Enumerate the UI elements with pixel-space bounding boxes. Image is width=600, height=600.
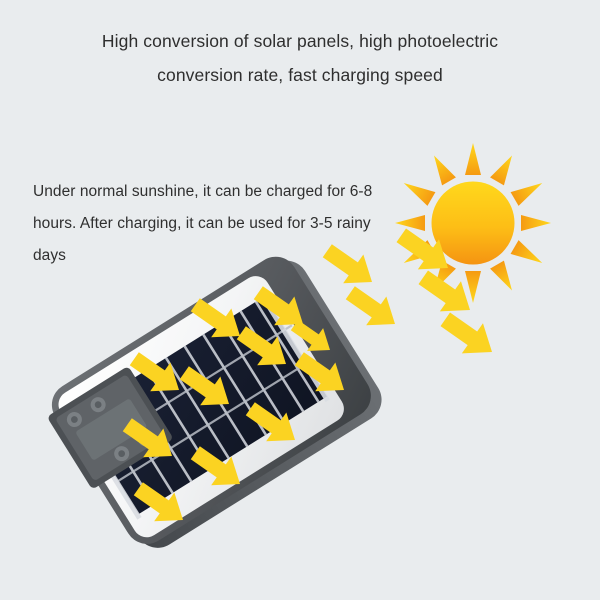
sun-disc [432, 182, 515, 265]
image-canvas: High conversion of solar panels, high ph… [0, 0, 600, 600]
sun-icon [395, 143, 551, 303]
illustration [0, 0, 600, 600]
